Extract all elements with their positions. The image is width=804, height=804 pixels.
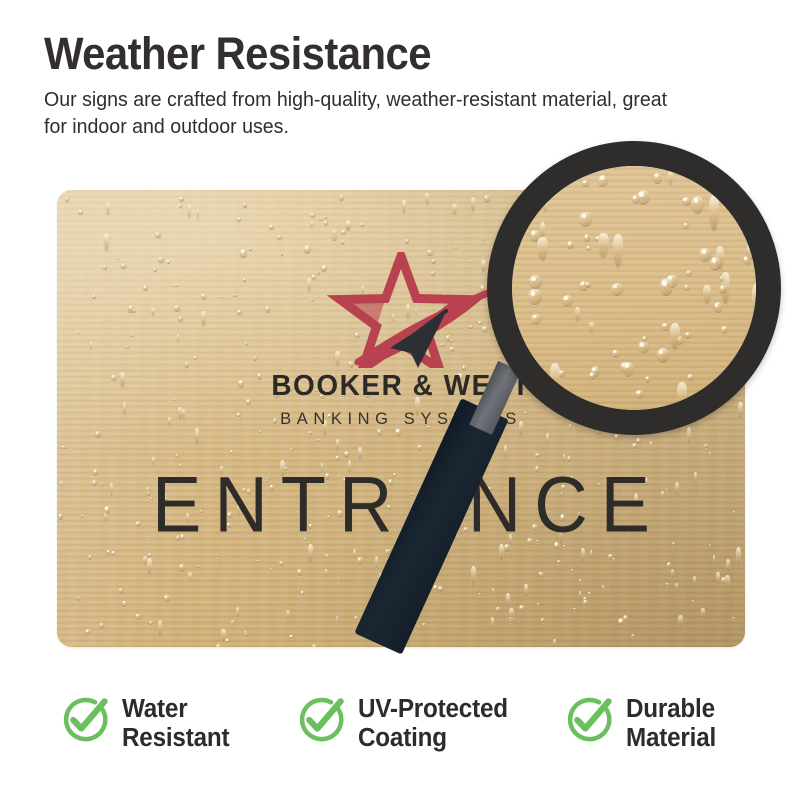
feature-label: Durable Material xyxy=(626,694,716,753)
feature-label: UV-Protected Coating xyxy=(358,694,508,753)
page-subtitle: Our signs are crafted from high-quality,… xyxy=(44,86,674,140)
weather-resistance-infographic: Weather Resistance Our signs are crafted… xyxy=(0,0,804,804)
page-title: Weather Resistance xyxy=(44,30,695,77)
brand-name: BOOKER & WEST xyxy=(64,372,738,401)
feature-item-durable-material: Durable Material xyxy=(564,694,721,753)
sign-panel: BOOKER & WEST BANKING SYSTEMS ENTRANCE xyxy=(57,190,745,647)
check-circle-icon xyxy=(296,695,345,744)
sign-product-image: BOOKER & WEST BANKING SYSTEMS ENTRANCE xyxy=(57,190,745,647)
star-swoosh-arrow-logo-icon xyxy=(306,252,496,368)
check-circle-icon xyxy=(60,695,109,744)
feature-label: Water Resistant xyxy=(122,694,229,753)
feature-item-water-resistant: Water Resistant xyxy=(60,694,296,753)
feature-item-uv-protected-coating: UV-Protected Coating xyxy=(296,694,564,753)
check-circle-icon xyxy=(564,695,613,744)
brand-tagline: BANKING SYSTEMS xyxy=(57,411,745,428)
sign-entrance-text: ENTRANCE xyxy=(57,466,745,544)
header: Weather Resistance Our signs are crafted… xyxy=(44,30,744,140)
sign-logo-block: BOOKER & WEST BANKING SYSTEMS xyxy=(57,252,745,427)
feature-list: Water Resistant UV-Protected Coating Dur… xyxy=(0,694,804,753)
